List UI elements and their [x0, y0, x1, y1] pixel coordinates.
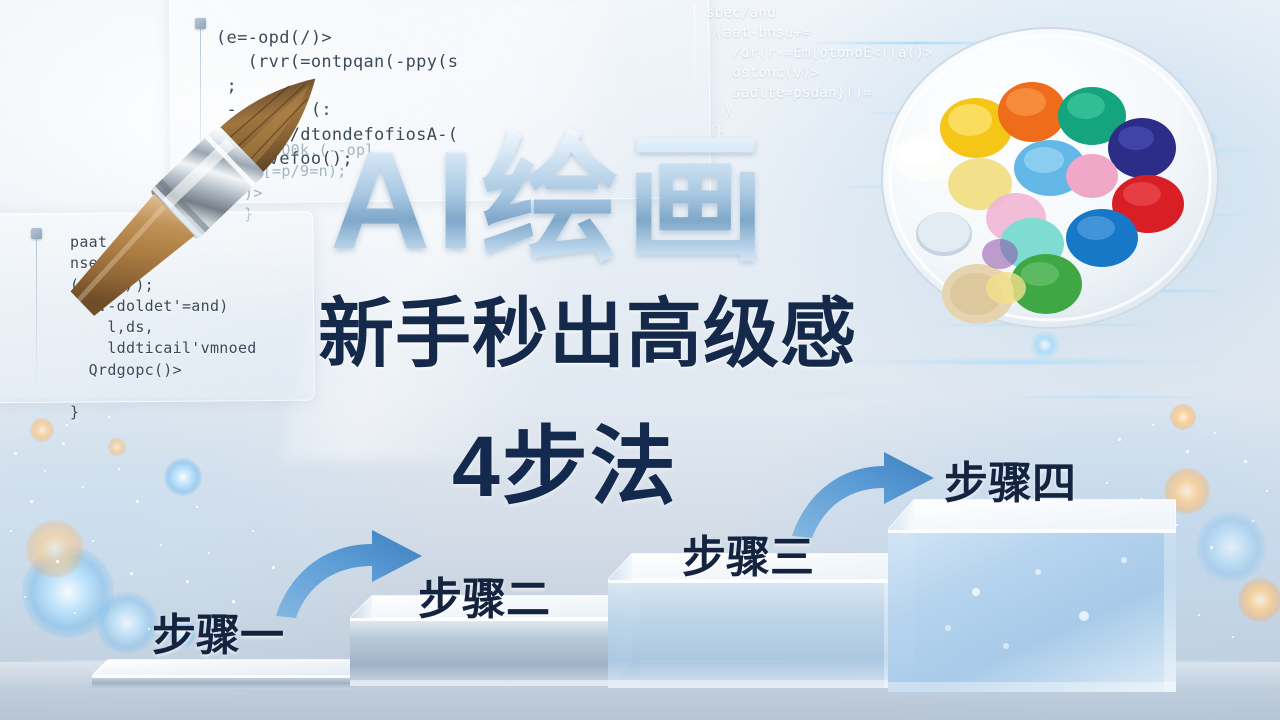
step-label-3: 步骤三 — [682, 536, 814, 580]
arrow-step1-to-step2 — [268, 516, 428, 622]
step-label-2: 步骤二 — [418, 578, 550, 622]
method-title: 4步法 — [452, 424, 678, 510]
code-rail-right — [694, 4, 695, 122]
subtitle: 新手秒出高级感 — [318, 292, 938, 378]
main-title: AI绘画 — [330, 118, 900, 283]
paint-brush — [36, 24, 366, 354]
step-label-1: 步骤一 — [152, 614, 284, 658]
podium-step-1 — [92, 654, 354, 694]
arrow-step3-to-step4 — [788, 440, 940, 542]
step-label-4: 步骤四 — [944, 462, 1076, 506]
poster-canvas: (e=-opd(/)> (rvr(=ontpqan(-ppy(s ; - p&e… — [0, 0, 1280, 720]
